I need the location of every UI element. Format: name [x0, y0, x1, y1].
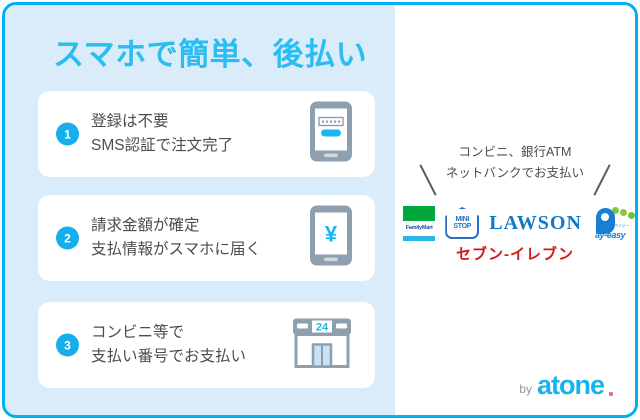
payeasy-wordmark: ay-easy — [595, 230, 625, 240]
payment-caption-line-1: コンビニ、銀行ATM — [395, 142, 635, 163]
banner-frame: スマホで簡単、後払い 1 登録は不要 SMS認証で注文完了 — [2, 2, 638, 418]
atone-dot-icon — [609, 392, 613, 396]
phone-yen-icon: ¥ — [309, 205, 353, 272]
step-3-line-1: コンビニ等で — [91, 321, 246, 345]
step-text-3: コンビニ等で 支払い番号でお支払い — [91, 321, 246, 369]
ministop-logo: MINI STOP — [445, 207, 479, 239]
ministop-line-2: STOP — [445, 223, 479, 230]
step-badge-3: 3 — [56, 334, 79, 357]
lawson-logo: LAWSON — [489, 212, 582, 235]
step-3-line-2: 支払い番号でお支払い — [91, 345, 246, 369]
payment-caption: コンビニ、銀行ATM ネットバンクでお支払い — [395, 142, 635, 183]
yen-glyph: ¥ — [325, 222, 338, 247]
payeasy-kana: ペイジー — [614, 223, 629, 229]
payeasy-logo: ペイジー ay-easy — [592, 206, 631, 240]
ministop-wordmark: MINI STOP — [445, 216, 479, 231]
payeasy-dot-2 — [620, 209, 627, 216]
step-1-line-1: 登録は不要 — [91, 110, 233, 134]
phone-sms-icon — [309, 101, 353, 168]
step-2-line-1: 請求金額が確定 — [91, 214, 261, 238]
step-text-2: 請求金額が確定 支払情報がスマホに届く — [91, 214, 261, 262]
step-badge-1: 1 — [56, 123, 79, 146]
step-1-line-2: SMS認証で注文完了 — [91, 134, 233, 158]
store-24-label: 24 — [316, 322, 329, 334]
payment-caption-line-2: ネットバンクでお支払い — [395, 163, 635, 184]
step-badge-2: 2 — [56, 227, 79, 250]
payment-logo-row: FamilyMart MINI STOP LAWSON ペイジ — [403, 203, 631, 243]
step-2-line-2: 支払情報がスマホに届く — [91, 238, 261, 262]
payment-methods-panel: コンビニ、銀行ATM ネットバンクでお支払い FamilyMart MINI S… — [395, 5, 635, 415]
payeasy-dot-3 — [628, 212, 635, 219]
familymart-logo: FamilyMart — [403, 206, 435, 241]
promo-banner: スマホで簡単、後払い 1 登録は不要 SMS認証で注文完了 — [0, 0, 640, 420]
atone-wordmark: atone — [537, 372, 604, 399]
ministop-line-1: MINI — [445, 216, 479, 223]
step-card-1: 1 登録は不要 SMS認証で注文完了 — [38, 91, 375, 177]
step-card-2: 2 請求金額が確定 支払情報がスマホに届く ¥ — [38, 195, 375, 281]
steps-panel: スマホで簡単、後払い 1 登録は不要 SMS認証で注文完了 — [5, 5, 395, 415]
by-label: by — [519, 382, 532, 399]
familymart-wordmark: FamilyMart — [403, 221, 435, 236]
step-card-3: 3 コンビニ等で 支払い番号でお支払い 24 — [38, 302, 375, 388]
step-text-1: 登録は不要 SMS認証で注文完了 — [91, 110, 233, 158]
convenience-store-icon: 24 — [291, 317, 353, 374]
page-title: スマホで簡単、後払い — [53, 29, 367, 74]
atone-brand-footer: by atone — [519, 372, 613, 399]
familymart-green-band — [403, 206, 435, 221]
familymart-blue-band — [403, 236, 435, 241]
seven-eleven-logo: セブン‐イレブン — [395, 243, 635, 264]
